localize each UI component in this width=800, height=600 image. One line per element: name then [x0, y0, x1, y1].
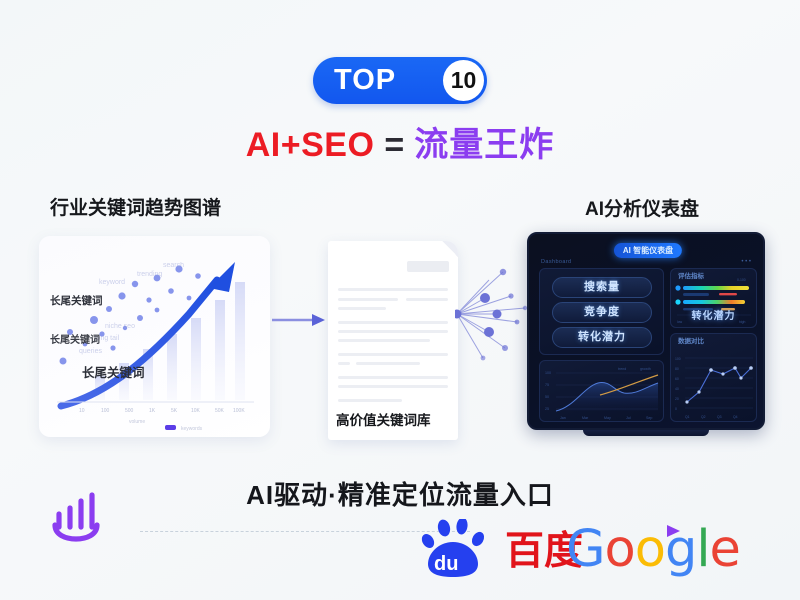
- svg-text:0: 0: [675, 407, 677, 411]
- gauge-panel: 评估指标: [670, 268, 757, 328]
- bar-chart-icon: [46, 483, 108, 545]
- svg-text:Jul: Jul: [626, 416, 631, 420]
- top-rank-badge: TOP 10: [313, 57, 487, 104]
- document-text-line: [338, 298, 398, 301]
- dashboard-stand: [583, 430, 709, 436]
- top-badge-number: 10: [451, 69, 477, 92]
- svg-text:75: 75: [545, 383, 549, 387]
- google-wordmark: Google: [566, 524, 740, 575]
- top-badge-circle: 10: [443, 60, 484, 101]
- svg-text:10K: 10K: [191, 408, 201, 414]
- page-title: AI+SEO=流量王炸: [0, 128, 800, 162]
- document-header-block: [407, 261, 449, 272]
- svg-text:10: 10: [79, 408, 85, 414]
- svg-text:40: 40: [675, 387, 679, 391]
- google-letter-o1: o: [605, 520, 635, 579]
- svg-text:0-100: 0-100: [737, 278, 746, 282]
- metric-buttons-panel: 搜索量 竞争度 转化潜力: [539, 268, 664, 355]
- document-text-line: [338, 339, 430, 342]
- line-chart-panel: 数据对比 10080: [670, 333, 757, 422]
- document-text-line: [338, 321, 448, 324]
- headline-operator: =: [384, 126, 404, 164]
- document-text-line: [338, 385, 448, 388]
- svg-text:50K: 50K: [215, 408, 225, 414]
- svg-text:queries: queries: [79, 348, 102, 355]
- headline-left: AI+SEO: [246, 126, 375, 164]
- dashboard-topbar: AI 智能仪表盘: [537, 239, 759, 256]
- svg-text:25: 25: [545, 407, 549, 411]
- google-letter-l: l: [696, 520, 709, 579]
- svg-text:trend: trend: [618, 367, 626, 371]
- svg-text:niche seo: niche seo: [105, 323, 135, 330]
- gauge-overlay-label: 转化潜力: [671, 312, 756, 322]
- document-text-line: [338, 307, 386, 310]
- gauge-panel-title: 评估指标: [678, 274, 704, 281]
- play-triangle-icon: [664, 523, 682, 539]
- svg-text:Q1: Q1: [685, 415, 690, 419]
- trend-keyword-label-1: 长尾关键词: [50, 296, 103, 307]
- top-badge-label: TOP: [334, 66, 396, 95]
- metric-button-search-volume[interactable]: 搜索量: [552, 277, 652, 298]
- flow-arrow-icon: [272, 312, 326, 328]
- keyword-trend-card: keyword trending search niche seo long t…: [39, 236, 270, 437]
- dashboard-title-badge: AI 智能仪表盘: [614, 243, 682, 258]
- svg-text:80: 80: [675, 367, 679, 371]
- svg-text:search: search: [163, 262, 184, 269]
- network-graph-icon: [455, 262, 535, 372]
- svg-text:Jan: Jan: [560, 416, 566, 420]
- document-text-line: [406, 298, 448, 301]
- trend-keyword-label-2: 长尾关键词: [50, 336, 100, 346]
- document-caption: 高价值关键词库: [336, 414, 431, 428]
- line-chart-svg: 10080 6040 200 Q1Q2 Q3Q4: [671, 334, 758, 423]
- svg-text:keyword: keyword: [99, 279, 125, 286]
- svg-text:500: 500: [125, 408, 134, 414]
- svg-text:1K: 1K: [149, 408, 156, 414]
- metric-button-conversion[interactable]: 转化潜力: [552, 327, 652, 348]
- google-letter-e: e: [709, 520, 739, 579]
- area-chart-svg: 10075 5025 JanMar MayJul Sep trendgrowth: [540, 361, 665, 423]
- line-panel-title: 数据对比: [678, 339, 704, 346]
- document-text-line: [356, 362, 420, 365]
- document-text-line: [338, 376, 448, 379]
- dashboard-screen: AI 智能仪表盘 Dashboard • • • 搜索量 竞争度 转化潜力: [527, 232, 765, 430]
- svg-text:Q4: Q4: [733, 415, 738, 419]
- svg-text:100K: 100K: [233, 408, 245, 414]
- svg-text:Q3: Q3: [717, 415, 722, 419]
- svg-text:100: 100: [675, 357, 681, 361]
- svg-text:Sep: Sep: [646, 416, 652, 420]
- keyword-library-document: 高价值关键词库: [328, 241, 458, 440]
- svg-text:volume: volume: [129, 419, 145, 425]
- svg-text:keywords: keywords: [181, 426, 203, 432]
- svg-text:50: 50: [545, 395, 549, 399]
- document-text-line: [338, 353, 448, 356]
- svg-text:May: May: [604, 416, 611, 420]
- left-section-caption: 行业关键词趋势图谱: [50, 199, 221, 218]
- ai-dashboard: AI 智能仪表盘 Dashboard • • • 搜索量 竞争度 转化潜力: [527, 232, 765, 437]
- svg-text:20: 20: [675, 397, 679, 401]
- document-fold-corner: [442, 241, 458, 257]
- metric-button-competition[interactable]: 竞争度: [552, 302, 652, 323]
- google-letter-G: G: [566, 520, 605, 579]
- svg-text:60: 60: [675, 377, 679, 381]
- dashboard-subtitle: Dashboard: [541, 259, 572, 265]
- svg-text:Q2: Q2: [701, 415, 706, 419]
- document-text-line: [338, 362, 350, 365]
- baidu-du-text: du: [434, 553, 458, 575]
- svg-text:100: 100: [101, 408, 110, 414]
- document-text-line: [338, 330, 448, 333]
- baidu-logo-icon: du: [418, 519, 510, 581]
- document-text-line: [338, 288, 448, 291]
- area-chart-panel: 10075 5025 JanMar MayJul Sep trendgrowth: [539, 360, 664, 422]
- svg-text:5K: 5K: [171, 408, 178, 414]
- trend-keyword-label-3: 长尾关键词: [82, 367, 145, 380]
- dashboard-menu-icon[interactable]: • • •: [741, 259, 751, 265]
- headline-right: 流量王炸: [414, 126, 554, 164]
- document-text-line: [338, 399, 402, 402]
- svg-text:100: 100: [545, 371, 551, 375]
- footer-tagline: AI驱动·精准定位流量入口: [0, 482, 800, 508]
- right-section-caption: AI分析仪表盘: [585, 200, 699, 219]
- svg-text:Mar: Mar: [582, 416, 589, 420]
- svg-text:growth: growth: [640, 367, 651, 371]
- svg-text:trending: trending: [137, 271, 162, 278]
- google-letter-o2: o: [635, 520, 665, 579]
